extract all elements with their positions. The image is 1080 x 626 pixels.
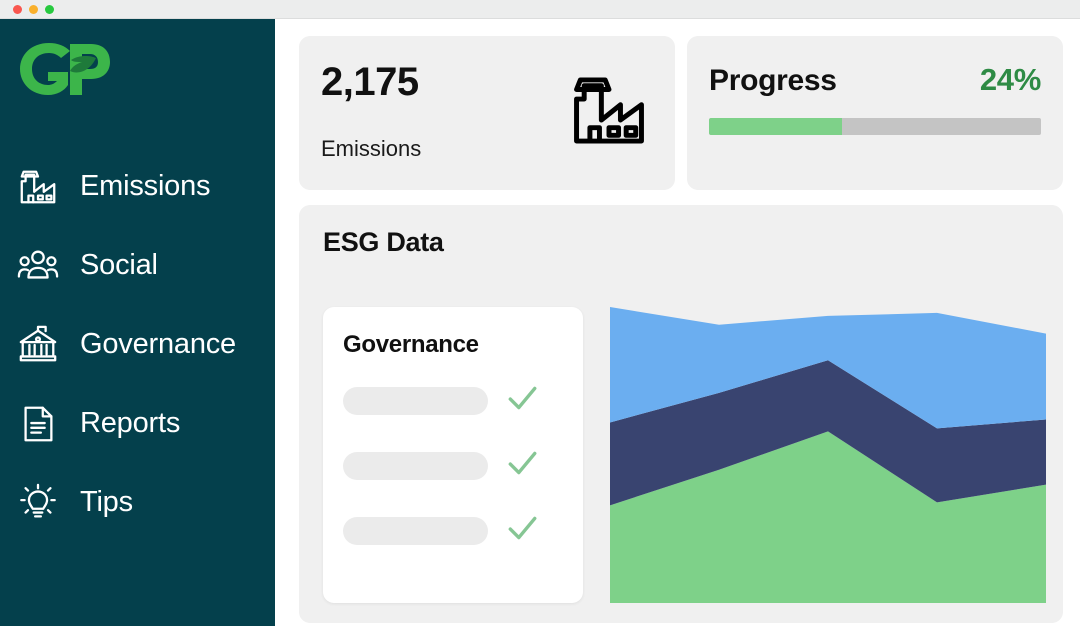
progress-percent: 24% <box>980 62 1041 98</box>
factory-icon <box>16 165 60 209</box>
esg-panel-title: ESG Data <box>323 227 1063 258</box>
list-item[interactable] <box>343 446 563 485</box>
sidebar-item-label: Social <box>80 249 158 282</box>
sidebar-item-label: Reports <box>80 407 180 440</box>
bank-building-icon <box>16 323 60 367</box>
sidebar-item-reports[interactable]: Reports <box>0 384 275 463</box>
check-icon <box>505 446 539 485</box>
close-window-button[interactable] <box>13 5 22 14</box>
people-group-icon <box>16 244 60 288</box>
governance-placeholder-bar <box>343 452 488 480</box>
check-icon <box>505 381 539 420</box>
minimize-window-button[interactable] <box>29 5 38 14</box>
app-window: Emissions Social <box>0 0 1080 626</box>
list-item[interactable] <box>343 381 563 420</box>
emissions-label: Emissions <box>321 136 421 162</box>
kpi-row: 2,175 Emissions Progress 24% <box>299 36 1063 190</box>
sidebar-item-governance[interactable]: Governance <box>0 305 275 384</box>
sidebar-item-emissions[interactable]: Emissions <box>0 147 275 226</box>
governance-card-title: Governance <box>343 331 563 359</box>
brand-logo[interactable] <box>16 38 112 100</box>
sidebar-item-tips[interactable]: Tips <box>0 463 275 542</box>
main-content: 2,175 Emissions Progress 24% <box>275 19 1080 626</box>
sidebar-nav: Emissions Social <box>0 147 275 542</box>
progress-header: Progress 24% <box>709 62 1041 98</box>
maximize-window-button[interactable] <box>45 5 54 14</box>
document-icon <box>16 402 60 446</box>
progress-title: Progress <box>709 64 837 98</box>
governance-placeholder-bar <box>343 517 488 545</box>
esg-panel-body: Governance <box>323 307 1046 603</box>
progress-kpi-card: Progress 24% <box>687 36 1063 190</box>
progress-bar-track[interactable] <box>709 118 1041 135</box>
emissions-kpi-card: 2,175 Emissions <box>299 36 675 190</box>
lightbulb-icon <box>16 481 60 525</box>
sidebar: Emissions Social <box>0 19 275 626</box>
list-item[interactable] <box>343 511 563 550</box>
governance-card: Governance <box>323 307 583 603</box>
sidebar-item-label: Governance <box>80 328 236 361</box>
governance-placeholder-bar <box>343 387 488 415</box>
check-icon <box>505 511 539 550</box>
window-titlebar <box>0 0 1080 19</box>
sidebar-item-social[interactable]: Social <box>0 226 275 305</box>
progress-bar-fill <box>709 118 842 135</box>
esg-stacked-area-chart <box>610 307 1046 603</box>
factory-icon <box>567 69 651 158</box>
sidebar-item-label: Tips <box>80 486 133 519</box>
esg-data-panel: ESG Data Governance <box>299 205 1063 623</box>
stacked-area-svg <box>610 307 1046 603</box>
gp-leaf-logo-mark <box>20 43 110 95</box>
window-controls <box>13 5 54 14</box>
sidebar-item-label: Emissions <box>80 170 210 203</box>
